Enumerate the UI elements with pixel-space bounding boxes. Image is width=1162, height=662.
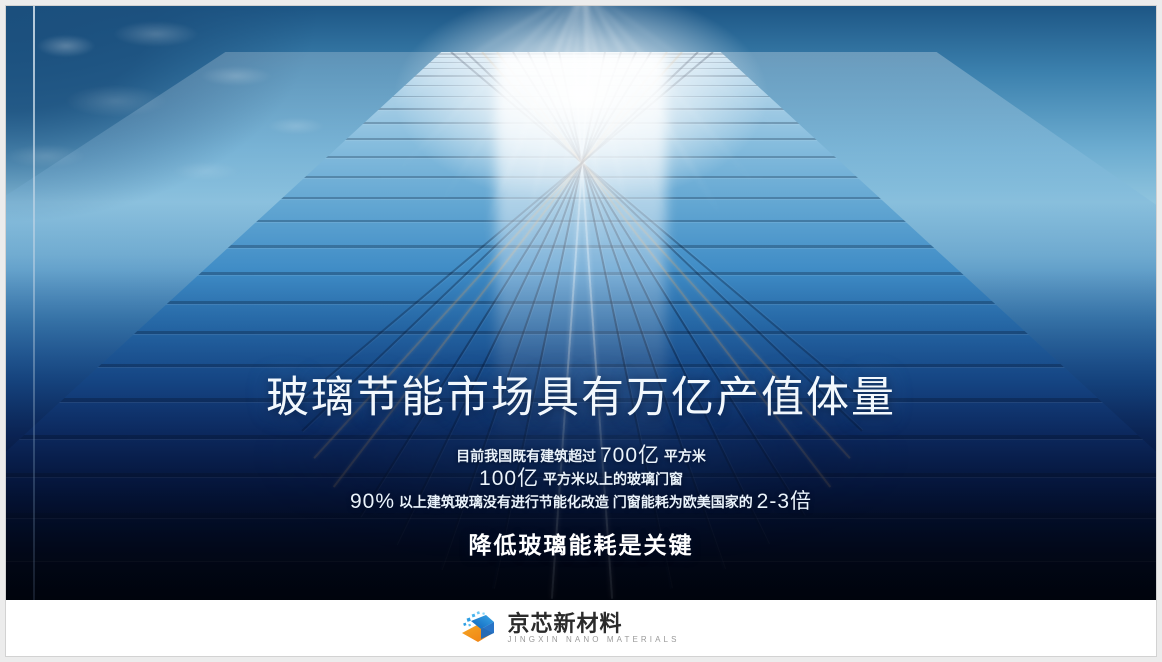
slide-footer: 京芯新材料 JINGXIN NANO MATERIALS xyxy=(6,600,1156,656)
slide-background-photo: 玻璃节能市场具有万亿产值体量 目前我国既有建筑超过 700亿 平方米 100亿 … xyxy=(6,6,1156,600)
stat-3-number-2: 2-3倍 xyxy=(757,490,812,513)
brand-logo-text: 京芯新材料 JINGXIN NANO MATERIALS xyxy=(507,613,679,644)
pixel-cube-logo-icon xyxy=(458,611,498,645)
stat-3-suffix: 以上建筑玻璃没有进行节能化改造 门窗能耗为欧美国家的 xyxy=(399,494,753,510)
brand-name-cn: 京芯新材料 xyxy=(507,613,679,635)
brand-name-en: JINGXIN NANO MATERIALS xyxy=(507,636,679,644)
stat-3-number: 90% xyxy=(350,490,395,513)
presentation-slide: 玻璃节能市场具有万亿产值体量 目前我国既有建筑超过 700亿 平方米 100亿 … xyxy=(6,6,1156,656)
slide-tagline: 降低玻璃能耗是关键 xyxy=(469,526,694,560)
stat-line-3: 90% 以上建筑玻璃没有进行节能化改造 门窗能耗为欧美国家的 2-3倍 xyxy=(350,485,812,515)
brand-logo: 京芯新材料 JINGXIN NANO MATERIALS xyxy=(458,611,679,645)
slide-headline: 玻璃节能市场具有万亿产值体量 xyxy=(266,377,896,420)
